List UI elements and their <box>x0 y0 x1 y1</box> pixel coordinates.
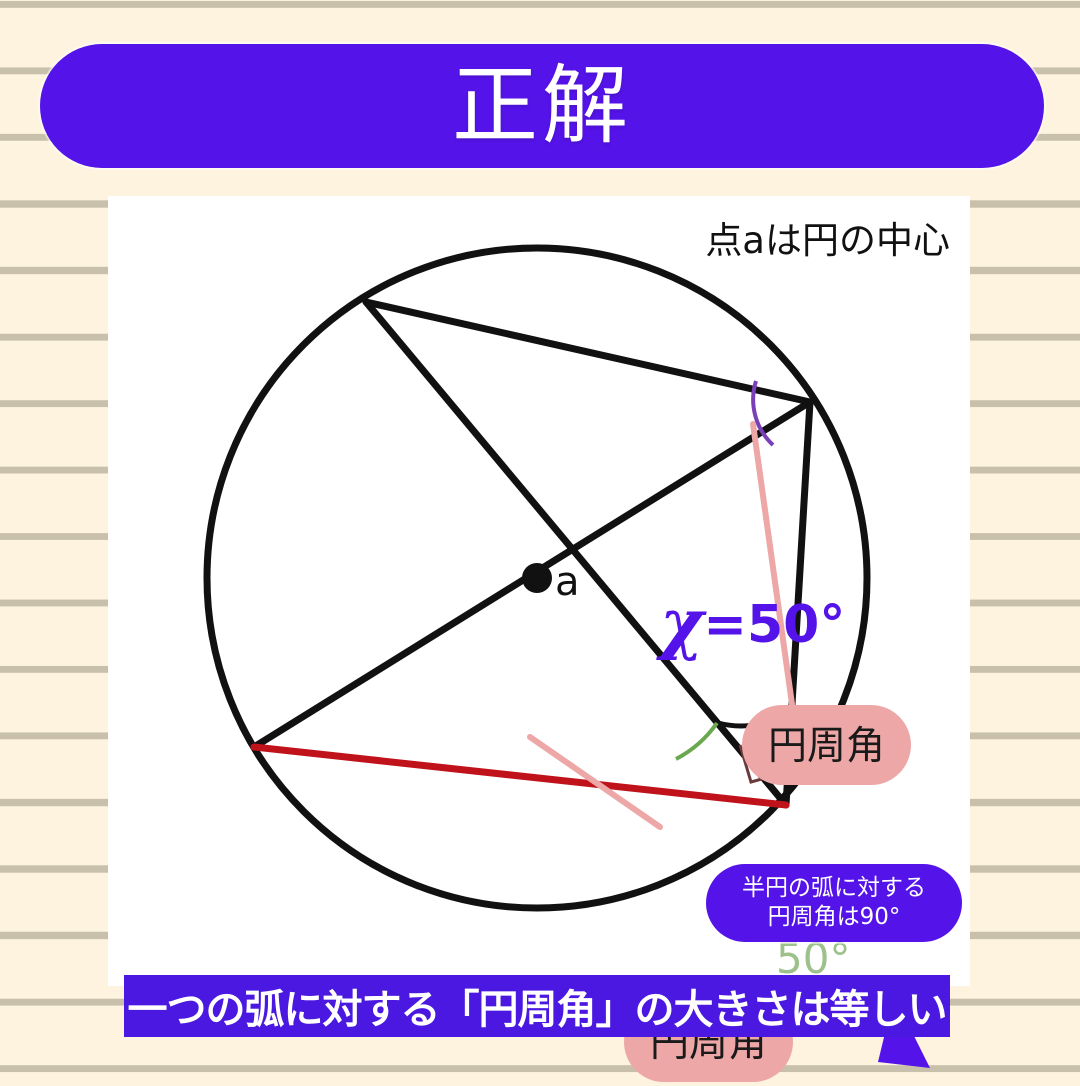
speech-bubble: 半円の弧に対する 円周角は90° <box>706 864 962 942</box>
title-banner: 正解 <box>40 44 1044 168</box>
chi-symbol: χ <box>660 584 703 662</box>
bottom-banner: 一つの弧に対する「円周角」の大きさは等しい <box>124 975 950 1037</box>
speech-bubble-line2: 円周角は90° <box>768 903 901 932</box>
center-point-label: a <box>555 559 580 605</box>
red-chord <box>254 747 786 805</box>
answer-x-label: χ=50° <box>660 584 845 662</box>
speech-bubble-line1: 半円の弧に対する <box>742 874 926 903</box>
page-title: 正解 <box>452 63 632 149</box>
center-point-dot <box>522 563 552 593</box>
chord-topleft-bottomright <box>366 302 786 805</box>
answer-value: =50° <box>703 595 845 655</box>
bottom-banner-text: 一つの弧に対する「円周角」の大きさは等しい <box>128 977 947 1035</box>
inscribed-angle-pill-upper: 円周角 <box>742 705 911 785</box>
leader-line-upper <box>753 424 792 704</box>
angle-arc-50-green <box>676 723 717 759</box>
